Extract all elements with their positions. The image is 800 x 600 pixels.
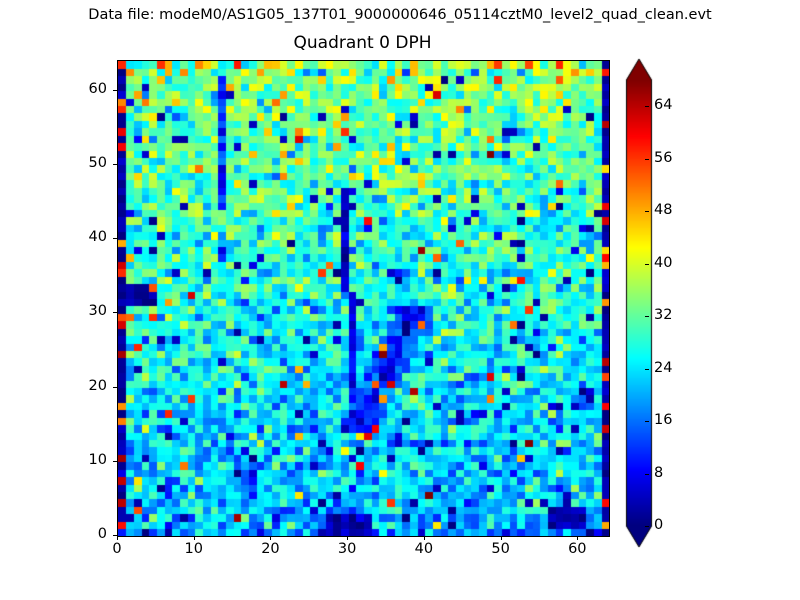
y-tick-mark (113, 312, 117, 313)
x-tick-mark (117, 536, 118, 540)
x-tick-mark (424, 536, 425, 540)
colorbar-tick-label: 0 (654, 517, 663, 534)
y-tick-mark (113, 535, 117, 536)
y-tick-label: 20 (63, 378, 107, 395)
colorbar-tick-label: 56 (654, 150, 672, 167)
y-tick-mark (113, 90, 117, 91)
x-tick-mark (194, 536, 195, 540)
y-tick-label: 30 (63, 303, 107, 320)
x-tick-label: 50 (471, 541, 531, 558)
x-tick-mark (347, 536, 348, 540)
y-tick-mark (113, 461, 117, 462)
colorbar-tick-mark (645, 106, 649, 107)
colorbar-tick-mark (645, 421, 649, 422)
x-tick-label: 40 (394, 541, 454, 558)
y-tick-label: 0 (63, 526, 107, 543)
colorbar-tick-label: 48 (654, 202, 672, 219)
heatmap-axes[interactable] (117, 60, 610, 537)
colorbar-tick-label: 24 (654, 360, 672, 377)
x-tick-label: 0 (87, 541, 147, 558)
colorbar-tick-mark (645, 211, 649, 212)
colorbar-tick-label: 16 (654, 412, 672, 429)
x-tick-label: 60 (547, 541, 607, 558)
x-tick-mark (501, 536, 502, 540)
y-tick-mark (113, 238, 117, 239)
colorbar[interactable] (624, 58, 654, 548)
colorbar-tick-mark (645, 526, 649, 527)
colorbar-tick-mark (645, 369, 649, 370)
y-tick-label: 60 (63, 81, 107, 98)
x-tick-mark (270, 536, 271, 540)
colorbar-tick-mark (645, 474, 649, 475)
colorbar-tick-label: 40 (654, 255, 672, 272)
heatmap-image[interactable] (118, 61, 609, 536)
x-tick-label: 20 (240, 541, 300, 558)
colorbar-tick-mark (645, 159, 649, 160)
colorbar-tick-label: 8 (654, 465, 663, 482)
x-tick-label: 30 (317, 541, 377, 558)
y-tick-label: 10 (63, 452, 107, 469)
y-tick-label: 50 (63, 155, 107, 172)
x-tick-mark (577, 536, 578, 540)
page-title: Quadrant 0 DPH (117, 33, 608, 54)
colorbar-tick-label: 64 (654, 97, 672, 114)
y-tick-mark (113, 387, 117, 388)
colorbar-tick-mark (645, 316, 649, 317)
y-tick-mark (113, 164, 117, 165)
colorbar-gradient (624, 58, 654, 548)
x-tick-label: 10 (164, 541, 224, 558)
data-file-suptitle: Data file: modeM0/AS1G05_137T01_90000006… (0, 6, 800, 24)
matplotlib-figure: Data file: modeM0/AS1G05_137T01_90000006… (0, 0, 800, 600)
y-tick-label: 40 (63, 229, 107, 246)
colorbar-tick-label: 32 (654, 307, 672, 324)
colorbar-tick-mark (645, 264, 649, 265)
